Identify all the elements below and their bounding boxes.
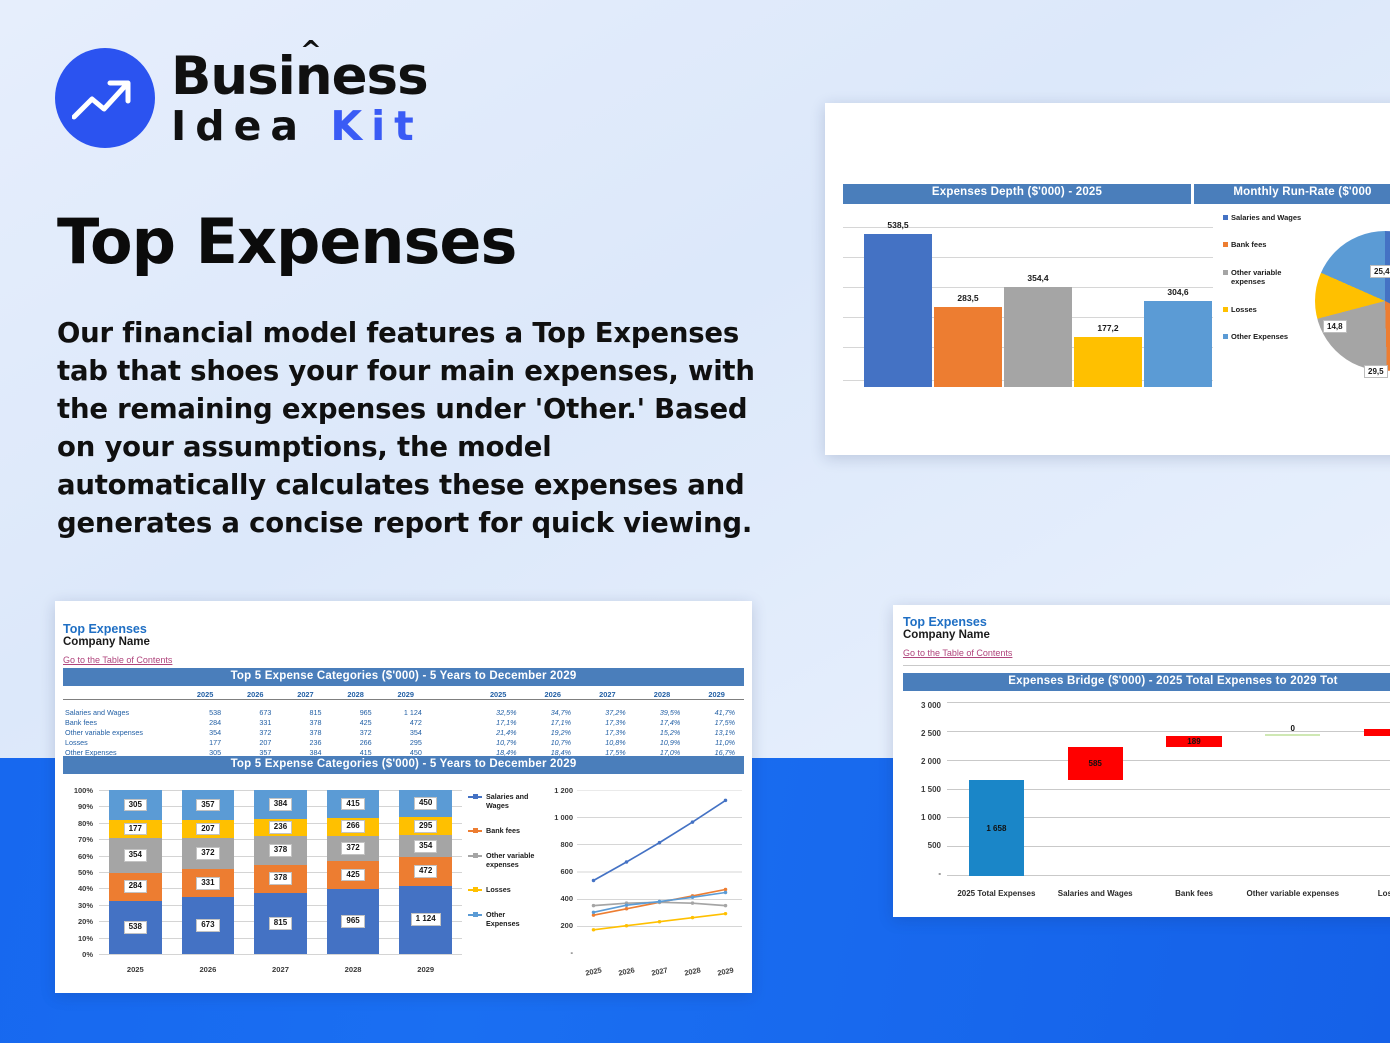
segment-value-label: 415 [341, 798, 364, 811]
expenses-bridge-panel: Top Expenses Company Name Go to the Tabl… [893, 605, 1390, 917]
segment-value-label: 425 [341, 869, 364, 882]
segment-value-label: 384 [269, 798, 292, 811]
stack-segment: 354 [399, 835, 452, 856]
bridge-bar: 189 [1166, 736, 1221, 747]
brand-word-idea: Idea [171, 102, 307, 150]
y-tick-label: - [903, 869, 941, 878]
stack-segment: 236 [254, 819, 307, 837]
expenses-depth-title: Expenses Depth ($'000) - 2025 [843, 184, 1191, 204]
bridge-bar: 0 [1265, 734, 1320, 736]
segment-value-label: 538 [124, 921, 147, 934]
stacked-column: 357207372331673 [182, 790, 235, 954]
segment-value-label: 305 [124, 799, 147, 812]
stack-segment: 673 [182, 897, 235, 954]
x-tick-label: 2025 [99, 965, 172, 974]
brand-word-kit: Kit [330, 102, 422, 150]
stacked-column: 384236378378815 [254, 790, 307, 954]
segment-value-label: 236 [269, 821, 292, 834]
stacked-column: 415266372425965 [327, 790, 380, 954]
stack-segment: 207 [182, 820, 235, 838]
stacked-plot-area: 3051773542845383572073723316733842363783… [99, 790, 462, 954]
legend-item: Losses [1223, 305, 1313, 314]
depth-bar-label: 538,5 [864, 220, 932, 230]
legend-item: Losses [468, 885, 540, 894]
brand-logo: Business ^ Idea Kit [55, 48, 428, 148]
depth-bar: 304,6 [1144, 301, 1212, 387]
x-tick-label: Bank fees [1145, 889, 1244, 898]
stack-segment: 372 [327, 836, 380, 861]
expenses-trend-line-chart: 1 2001 000800600400200- 2025202620272028… [543, 782, 744, 980]
brand-name-line1: Business ^ [171, 50, 428, 103]
depth-bar: 538,5 [864, 234, 932, 387]
y-tick-label: 1 200 [543, 786, 573, 795]
y-tick-label: 200 [543, 921, 573, 930]
segment-value-label: 378 [269, 844, 292, 857]
line-plot-area [577, 790, 742, 954]
stacked-columns: 3051773542845383572073723316733842363783… [99, 790, 462, 954]
y-tick-label: 2 000 [903, 757, 941, 766]
segment-value-label: 965 [341, 915, 364, 928]
y-tick-label: 80% [63, 819, 93, 828]
x-tick-label: Other variable expenses [1243, 889, 1342, 898]
x-tick-label: 2027 [642, 964, 676, 980]
bridge-sheet-title: Top Expenses [903, 615, 1012, 629]
x-tick-label: 2025 [576, 964, 610, 980]
depth-bar: 354,4 [1004, 287, 1072, 387]
stack-segment: 284 [109, 873, 162, 901]
bridge-plot-area: 1 65858518901 [947, 703, 1390, 876]
x-tick-label: 2025 Total Expenses [947, 889, 1046, 898]
legend-item: Bank fees [468, 826, 540, 835]
table-section-title: Top 5 Expense Categories ($'000) - 5 Yea… [63, 668, 744, 686]
segment-value-label: 177 [124, 823, 147, 836]
segment-value-label: 372 [341, 842, 364, 855]
panel-depth-band-row: Expenses Depth ($'000) - 2025 Monthly Ru… [843, 184, 1390, 204]
legend-item: Other variable expenses [468, 851, 540, 869]
x-tick-label: 2029 [708, 964, 742, 980]
monthly-run-rate-pie [1315, 231, 1390, 371]
y-tick-label: 50% [63, 868, 93, 877]
top-expenses-sheet-panel: Top Expenses Company Name Go to the Tabl… [55, 601, 752, 993]
circumflex-accent-icon: ^ [300, 38, 321, 64]
stack-segment: 384 [254, 790, 307, 819]
depth-bar-label: 354,4 [1004, 273, 1072, 283]
stack-segment: 472 [399, 857, 452, 886]
y-tick-label: 10% [63, 934, 93, 943]
line-x-axis: 20252026202720282029 [577, 967, 742, 976]
bridge-bar-label: 1 658 [986, 824, 1006, 833]
stack-segment: 415 [327, 790, 380, 818]
line-chart-legend: Salaries and WagesBank feesOther variabl… [468, 792, 540, 944]
table-row: Other variable expenses35437237837235421… [63, 727, 744, 737]
pie-label-other-expenses: 25,4 [1370, 265, 1390, 278]
sheet-charts-area: 100%90%80%70%60%50%40%30%20%10%0% 305177… [63, 778, 744, 983]
depth-bar: 283,5 [934, 307, 1002, 387]
y-tick-label: 20% [63, 917, 93, 926]
x-tick-label: 2026 [609, 964, 643, 980]
legend-item: Bank fees [1223, 240, 1313, 249]
segment-value-label: 266 [341, 820, 364, 833]
charts-section-title: Top 5 Expense Categories ($'000) - 5 Yea… [63, 756, 744, 774]
bridge-chart: 3 0002 5002 0001 5001 000500- 1 65858518… [903, 697, 1390, 902]
y-tick-label: 30% [63, 901, 93, 910]
stack-segment: 425 [327, 861, 380, 890]
stack-segment: 378 [254, 865, 307, 893]
table-row: Salaries and Wages5386738159651 12432,5%… [63, 707, 744, 717]
page-title: Top Expenses [57, 205, 516, 278]
stack-segment: 372 [182, 838, 235, 869]
segment-value-label: 284 [124, 880, 147, 893]
bridge-chart-title: Expenses Bridge ($'000) - 2025 Total Exp… [903, 673, 1390, 691]
stack-segment: 450 [399, 790, 452, 817]
segment-value-label: 673 [196, 919, 219, 932]
y-tick-label: 0% [63, 950, 93, 959]
x-tick-label: Losses [1342, 889, 1390, 898]
stack-segment: 538 [109, 901, 162, 954]
legend-item: Other Expenses [1223, 332, 1313, 341]
bridge-table-of-contents-link[interactable]: Go to the Table of Contents [903, 648, 1012, 658]
bridge-bar-label: 0 [1291, 724, 1295, 733]
stack-segment: 266 [327, 818, 380, 836]
segment-value-label: 815 [269, 917, 292, 930]
x-tick-label: 2026 [172, 965, 245, 974]
depth-bar: 177,2 [1074, 337, 1142, 387]
page-description: Our financial model features a Top Expen… [57, 315, 757, 543]
y-tick-label: 1 500 [903, 785, 941, 794]
stack-segment: 177 [109, 820, 162, 838]
y-tick-label: 90% [63, 802, 93, 811]
stack-segment: 815 [254, 893, 307, 954]
bridge-bar-label: 189 [1187, 737, 1200, 746]
monthly-run-rate-title: Monthly Run-Rate ($'000 [1194, 184, 1390, 204]
stack-segment: 295 [399, 817, 452, 835]
depth-bar-label: 304,6 [1144, 287, 1212, 297]
segment-value-label: 450 [414, 797, 437, 810]
stacked-bar-chart: 100%90%80%70%60%50%40%30%20%10%0% 305177… [63, 782, 468, 980]
stacked-column: 305177354284538 [109, 790, 162, 954]
legend-item: Other variable expenses [1223, 268, 1313, 287]
segment-value-label: 354 [124, 849, 147, 862]
y-tick-label: 100% [63, 786, 93, 795]
y-tick-label: 70% [63, 835, 93, 844]
segment-value-label: 354 [414, 840, 437, 853]
y-tick-label: 800 [543, 840, 573, 849]
stack-segment: 378 [254, 836, 307, 864]
bridge-bar-label: 585 [1089, 759, 1102, 768]
segment-value-label: 472 [414, 865, 437, 878]
y-tick-label: 3 000 [903, 701, 941, 710]
bridge-bar: 585 [1068, 747, 1123, 781]
expenses-depth-chart: 538,5283,5354,4177,2304,6 [843, 211, 1213, 387]
segment-value-label: 207 [196, 823, 219, 836]
x-tick-label: 2028 [317, 965, 390, 974]
brand-name-line2: Idea Kit [171, 106, 428, 147]
stack-segment: 357 [182, 790, 235, 820]
segment-value-label: 357 [196, 799, 219, 812]
legend-item: Salaries and Wages [1223, 213, 1313, 222]
y-tick-label: 400 [543, 894, 573, 903]
expenses-depth-panel: Expenses Depth ($'000) - 2025 Monthly Ru… [825, 103, 1390, 455]
depth-bar-label: 177,2 [1074, 323, 1142, 333]
bridge-divider [903, 665, 1390, 666]
stacked-x-axis: 20252026202720282029 [99, 965, 462, 974]
y-tick-label: 60% [63, 852, 93, 861]
legend-item: Salaries and Wages [468, 792, 540, 810]
segment-value-label: 378 [269, 872, 292, 885]
x-tick-label: Salaries and Wages [1046, 889, 1145, 898]
stack-segment: 1 124 [399, 886, 452, 954]
segment-value-label: 1 124 [411, 913, 441, 926]
sheet-title: Top Expenses [63, 622, 172, 636]
y-tick-label: 500 [903, 841, 941, 850]
y-tick-label: 600 [543, 867, 573, 876]
segment-value-label: 295 [414, 820, 437, 833]
depth-bar-label: 283,5 [934, 293, 1002, 303]
segment-value-label: 372 [196, 847, 219, 860]
x-tick-label: 2029 [389, 965, 462, 974]
bridge-company-name: Company Name [903, 629, 1012, 643]
x-tick-label: 2028 [675, 964, 709, 980]
y-tick-label: - [543, 948, 573, 957]
stacked-column: 4502953544721 124 [399, 790, 452, 954]
depth-bar-series: 538,5283,5354,4177,2304,6 [863, 217, 1213, 387]
table-row: Losses17720723626629510,7%10,7%10,8%10,9… [63, 737, 744, 747]
sheet-header: Top Expenses Company Name Go to the Tabl… [63, 622, 172, 668]
y-tick-label: 1 000 [543, 813, 573, 822]
y-tick-label: 40% [63, 884, 93, 893]
x-tick-label: 2027 [244, 965, 317, 974]
bridge-bar: 1 658 [969, 780, 1024, 876]
table-of-contents-link[interactable]: Go to the Table of Contents [63, 655, 172, 665]
growth-arrow-icon [55, 48, 155, 148]
pie-label-other-variable: 29,5 [1364, 365, 1388, 378]
stack-segment: 354 [109, 838, 162, 873]
bridge-sheet-header: Top Expenses Company Name Go to the Tabl… [903, 615, 1012, 661]
y-tick-label: 2 500 [903, 729, 941, 738]
stack-segment: 331 [182, 869, 235, 897]
depth-chart-legend: Salaries and WagesBank feesOther variabl… [1223, 213, 1313, 359]
segment-value-label: 331 [196, 877, 219, 890]
stack-segment: 305 [109, 790, 162, 820]
y-tick-label: 1 000 [903, 813, 941, 822]
bridge-x-axis: 2025 Total ExpensesSalaries and WagesBan… [947, 889, 1390, 898]
sheet-company-name: Company Name [63, 636, 172, 650]
stack-segment: 965 [327, 889, 380, 954]
pie-label-losses: 14,8 [1323, 320, 1347, 333]
bridge-bar: 1 [1364, 729, 1390, 736]
table-row: Bank fees28433137842547217,1%17,1%17,3%1… [63, 717, 744, 727]
legend-item: Other Expenses [468, 910, 540, 928]
